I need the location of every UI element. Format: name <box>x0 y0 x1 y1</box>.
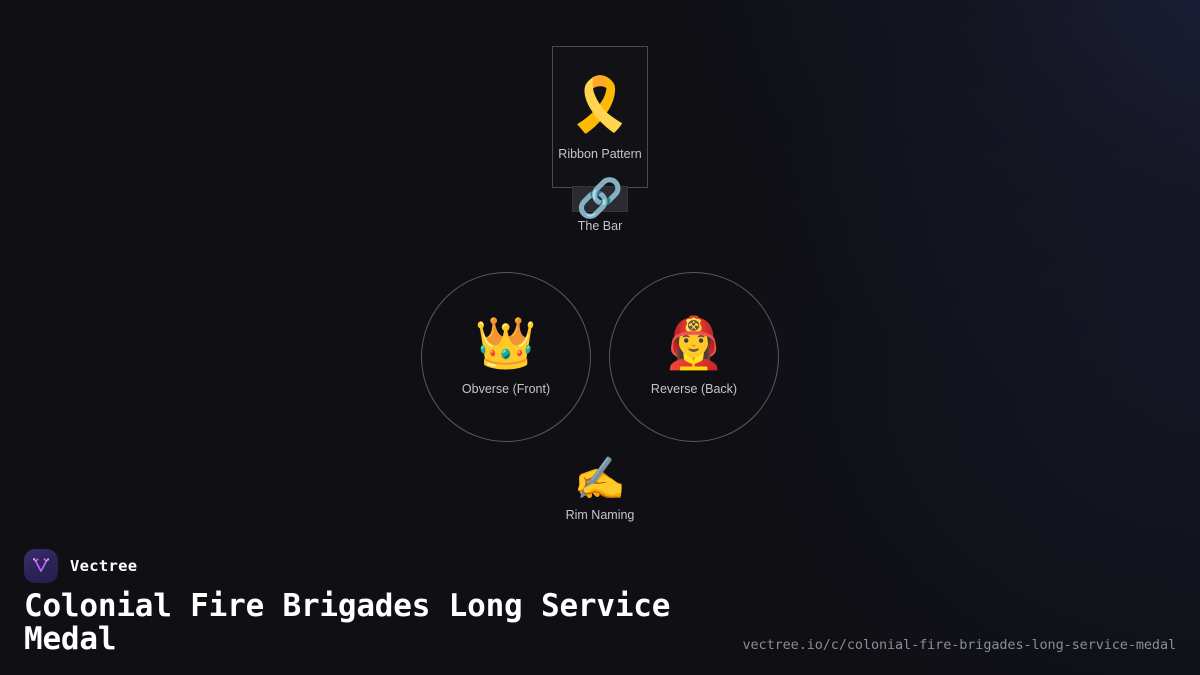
link-emoji-icon: 🔗 <box>576 179 623 217</box>
footer: Vectree Colonial Fire Brigades Long Serv… <box>0 540 1200 675</box>
node-label-rim-naming: Rim Naming <box>566 508 635 522</box>
writing-hand-emoji-icon: ✍️ <box>574 458 626 500</box>
page-title: Colonial Fire Brigades Long Service Meda… <box>24 590 764 657</box>
node-label-reverse-back: Reverse (Back) <box>651 382 737 396</box>
node-the-bar[interactable]: 🔗 The Bar <box>572 186 628 212</box>
node-ribbon-pattern[interactable]: 🎗️ Ribbon Pattern <box>552 46 648 188</box>
crown-emoji-icon: 👑 <box>475 318 537 368</box>
brand-name: Vectree <box>70 557 137 575</box>
node-rim-naming[interactable]: ✍️ Rim Naming <box>552 452 648 528</box>
node-label-the-bar: The Bar <box>578 219 622 233</box>
footer-url: vectree.io/c/colonial-fire-brigades-long… <box>743 637 1177 653</box>
firefighter-emoji-icon: 👩‍🚒 <box>663 318 725 368</box>
node-reverse-back[interactable]: 👩‍🚒 Reverse (Back) <box>609 272 779 442</box>
node-label-ribbon-pattern: Ribbon Pattern <box>558 147 641 161</box>
node-obverse-front[interactable]: 👑 Obverse (Front) <box>421 272 591 442</box>
vectree-logo-icon <box>24 549 58 583</box>
node-label-obverse-front: Obverse (Front) <box>462 382 550 396</box>
ribbon-emoji-icon: 🎗️ <box>568 79 633 131</box>
brand-row[interactable]: Vectree <box>24 549 137 583</box>
